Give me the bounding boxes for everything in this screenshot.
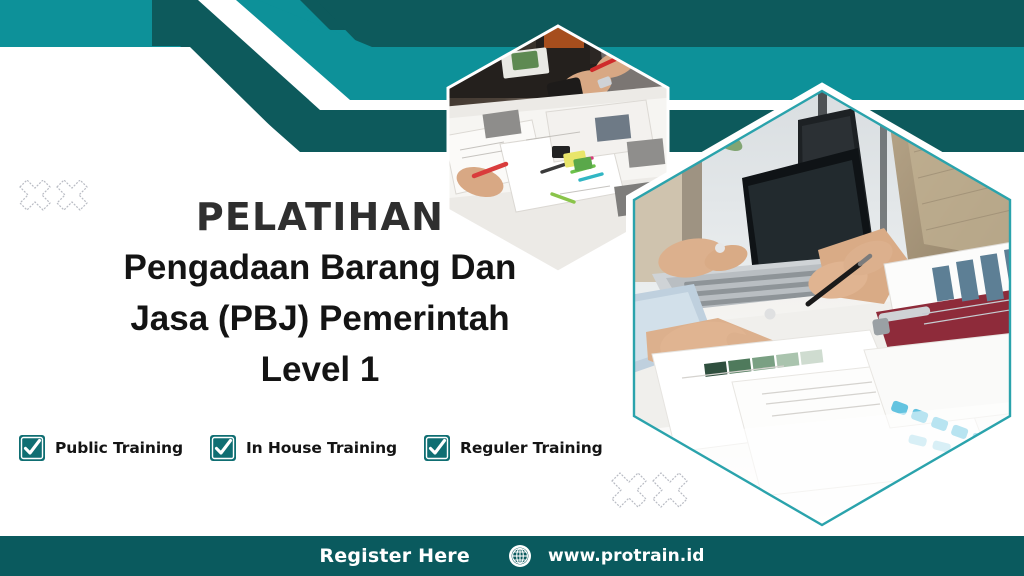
headline-line-2: Jasa (PBJ) Pemerintah (0, 293, 640, 344)
checkbox-checked-icon[interactable] (18, 434, 46, 462)
hero-photo-meeting (622, 82, 1022, 534)
badge-item[interactable]: In House Training (209, 434, 397, 462)
badge-item[interactable]: Reguler Training (423, 434, 603, 462)
badge-label: Public Training (55, 439, 183, 457)
promo-poster: PRO TRAIN IDN GROW YOUR SKILLS. GROW YOU… (0, 0, 1024, 576)
footer-bar: Register Here www.protrain.id (0, 536, 1024, 576)
badge-label: Reguler Training (460, 439, 603, 457)
checkbox-checked-icon[interactable] (423, 434, 451, 462)
website-group[interactable]: www.protrain.id (508, 544, 705, 568)
badge-item[interactable]: Public Training (18, 434, 183, 462)
headline-block: PELATIHAN Pengadaan Barang Dan Jasa (PBJ… (0, 198, 640, 395)
checkbox-checked-icon[interactable] (209, 434, 237, 462)
register-here-label[interactable]: Register Here (319, 545, 470, 567)
globe-icon (508, 544, 532, 568)
badge-label: In House Training (246, 439, 397, 457)
headline-line-1: Pengadaan Barang Dan (0, 242, 640, 293)
website-url[interactable]: www.protrain.id (548, 546, 705, 566)
headline-line-3: Level 1 (0, 344, 640, 395)
training-type-badges: Public Training In House Training Regu (18, 434, 603, 462)
headline-kicker: PELATIHAN (0, 198, 640, 238)
